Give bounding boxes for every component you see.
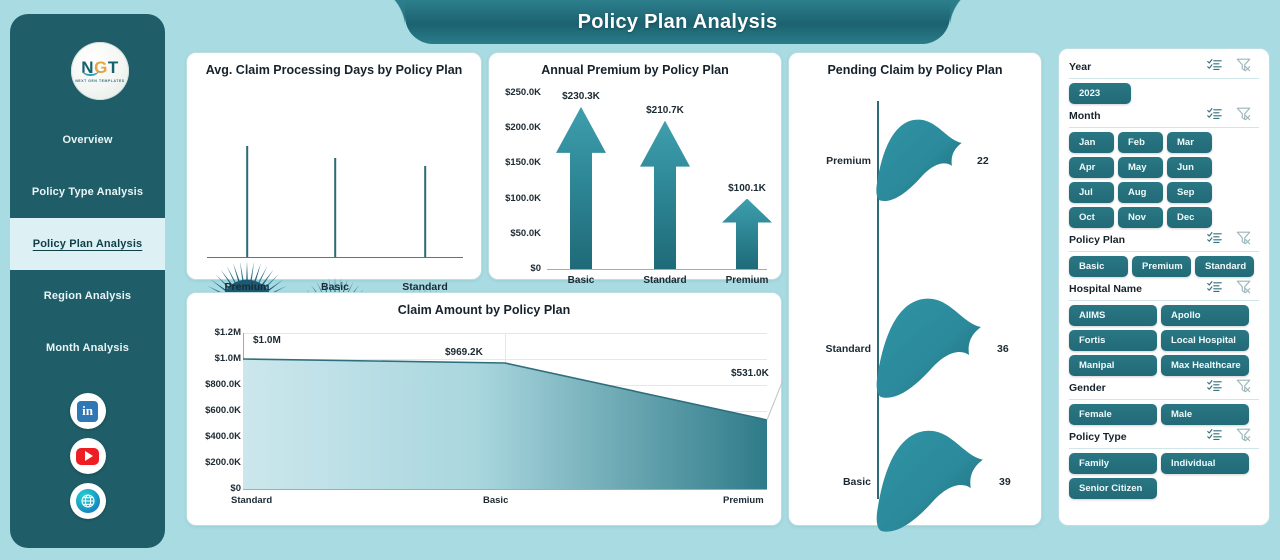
x-axis-line <box>547 269 767 270</box>
card-annual-premium: Annual Premium by Policy Plan $0$50.0K$1… <box>488 52 782 280</box>
filter-chip-basic[interactable]: Basic <box>1069 256 1128 277</box>
y-axis-tick-label: $600.0K <box>189 405 241 416</box>
multi-select-icon[interactable] <box>1207 428 1222 446</box>
clear-filter-icon[interactable] <box>1236 231 1251 250</box>
filter-icons <box>1207 58 1259 77</box>
filter-group-gender: Gender FemaleMale <box>1069 378 1259 425</box>
divider <box>1069 78 1259 79</box>
flag-shape <box>875 293 985 405</box>
y-axis-tick-label: $150.0K <box>491 157 541 168</box>
filter-chip-local-hospital[interactable]: Local Hospital <box>1161 330 1249 351</box>
multi-select-icon[interactable] <box>1207 231 1222 249</box>
flag-value-label: 39 <box>999 476 1011 488</box>
chart-claim-processing-days: 26Premium24Basic23Standard <box>187 97 483 281</box>
divider <box>1069 127 1259 128</box>
filter-group-title: Month <box>1069 110 1207 122</box>
logo-subtitle: NEXT GEN TEMPLATES <box>75 79 124 83</box>
clear-filter-icon[interactable] <box>1236 107 1251 126</box>
y-axis-tick-label: $0 <box>491 263 541 274</box>
filter-chip-jun[interactable]: Jun <box>1167 157 1212 178</box>
chart-title-pending-claim: Pending Claim by Policy Plan <box>789 53 1041 79</box>
filter-group-title: Hospital Name <box>1069 283 1207 295</box>
dandelion-value: 24 <box>329 312 340 323</box>
y-axis-tick-label: $250.0K <box>491 87 541 98</box>
filter-chip-apr[interactable]: Apr <box>1069 157 1114 178</box>
filter-group-policy-plan: Policy Plan BasicPremiumStandard <box>1069 230 1259 277</box>
sidebar-nav: Overview Policy Type Analysis Policy Pla… <box>10 114 165 374</box>
multi-select-icon[interactable] <box>1207 107 1222 125</box>
filter-chip-oct[interactable]: Oct <box>1069 207 1114 228</box>
logo-letter-t: T <box>108 58 119 77</box>
filter-chip-male[interactable]: Male <box>1161 404 1249 425</box>
arrow-shape <box>640 121 690 269</box>
filter-options: JanFebMarAprMayJunJulAugSepOctNovDec <box>1069 132 1259 228</box>
flag-category-label: Standard <box>799 343 871 355</box>
filter-chip-feb[interactable]: Feb <box>1118 132 1163 153</box>
filter-icons <box>1207 428 1259 447</box>
dandelion-stem <box>246 146 248 257</box>
divider <box>1069 300 1259 301</box>
filter-chip-family[interactable]: Family <box>1069 453 1157 474</box>
y-axis-line <box>243 333 244 489</box>
filter-chip-sep[interactable]: Sep <box>1167 182 1212 203</box>
filter-chip-jan[interactable]: Jan <box>1069 132 1114 153</box>
y-axis-tick-label: $800.0K <box>189 379 241 390</box>
sidebar-item-region-analysis[interactable]: Region Analysis <box>10 270 165 322</box>
filter-chip-manipal[interactable]: Manipal <box>1069 355 1157 376</box>
sidebar: NGT NEXT GEN TEMPLATES Overview Policy T… <box>10 14 165 548</box>
flag-shape <box>875 425 987 539</box>
clear-filter-icon[interactable] <box>1236 58 1251 77</box>
filter-options: AIIMSApolloFortisLocal HospitalManipalMa… <box>1069 305 1259 376</box>
filter-chip-senior-citizen[interactable]: Senior Citizen <box>1069 478 1157 499</box>
filter-chip-female[interactable]: Female <box>1069 404 1157 425</box>
page-title: Policy Plan Analysis <box>405 0 950 44</box>
divider <box>1069 251 1259 252</box>
filter-group-title: Gender <box>1069 382 1207 394</box>
filter-options: BasicPremiumStandard <box>1069 256 1259 277</box>
dashboard-root: NGT NEXT GEN TEMPLATES Overview Policy T… <box>0 0 1280 560</box>
arrow-bar-group: $100.1K <box>712 199 782 269</box>
filter-options: FemaleMale <box>1069 404 1259 425</box>
youtube-button[interactable] <box>70 438 106 474</box>
filter-group-header: Policy Plan <box>1069 230 1259 250</box>
divider <box>1069 448 1259 449</box>
filter-chip-premium[interactable]: Premium <box>1132 256 1191 277</box>
flag-value-label: 22 <box>977 155 989 167</box>
filter-chip-max-healthcare[interactable]: Max Healthcare <box>1161 355 1249 376</box>
filter-group-title: Policy Plan <box>1069 234 1207 246</box>
filter-chip-jul[interactable]: Jul <box>1069 182 1114 203</box>
filter-group-month: Month JanFebMarAprMayJunJulAugSepOctNovD… <box>1069 106 1259 228</box>
filter-chip-fortis[interactable]: Fortis <box>1069 330 1157 351</box>
arrow-value-label: $230.3K <box>536 91 626 102</box>
arrow-bar-group: $230.3K <box>546 107 616 269</box>
filter-options: 2023 <box>1069 83 1259 104</box>
y-axis-tick-label: $100.0K <box>491 193 541 204</box>
filter-chip-may[interactable]: May <box>1118 157 1163 178</box>
flag-row: Standard36 <box>789 293 1043 413</box>
filter-group-policy-type: Policy Type FamilyIndividualSenior Citiz… <box>1069 427 1259 499</box>
area-series <box>187 293 783 527</box>
divider <box>1069 399 1259 400</box>
x-axis-line <box>243 489 767 490</box>
flag-row: Premium22 <box>789 115 1043 235</box>
y-axis-tick-label: $1.2M <box>189 327 241 338</box>
website-button[interactable] <box>70 483 106 519</box>
sidebar-item-overview[interactable]: Overview <box>10 114 165 166</box>
flag-category-label: Basic <box>799 476 871 488</box>
multi-select-icon[interactable] <box>1207 379 1222 397</box>
area-value-label: $531.0K <box>731 368 769 379</box>
y-axis-tick-label: $200.0K <box>491 122 541 133</box>
filter-panel: Year 2023Month JanFebMarAprMayJunJulAugS… <box>1058 48 1270 526</box>
clear-filter-icon[interactable] <box>1236 379 1251 398</box>
x-axis-category-label: Premium <box>702 275 792 286</box>
filter-icons <box>1207 379 1259 398</box>
youtube-icon <box>76 448 99 465</box>
filter-group-hospital-name: Hospital Name AIIMSApolloFortisLocal Hos… <box>1069 279 1259 376</box>
filter-chip-standard[interactable]: Standard <box>1195 256 1254 277</box>
dandelion-value: 23 <box>419 320 430 331</box>
chart-title-claim-amount: Claim Amount by Policy Plan <box>187 293 781 319</box>
x-axis-category-label: Basic <box>536 275 626 286</box>
filter-group-year: Year 2023 <box>1069 57 1259 104</box>
area-value-label: $1.0M <box>253 335 281 346</box>
multi-select-icon[interactable] <box>1207 58 1222 76</box>
app-logo: NGT NEXT GEN TEMPLATES <box>71 42 129 100</box>
y-axis-tick-label: $50.0K <box>491 228 541 239</box>
card-pending-claim: Pending Claim by Policy Plan Premium22St… <box>788 52 1042 526</box>
sidebar-item-policy-type-analysis[interactable]: Policy Type Analysis <box>10 166 165 218</box>
flag-row: Basic39 <box>789 425 1043 545</box>
area-value-label: $969.2K <box>445 347 483 358</box>
filter-chip-aug[interactable]: Aug <box>1118 182 1163 203</box>
filter-icons <box>1207 107 1259 126</box>
flag-category-label: Premium <box>799 155 871 167</box>
card-claim-processing-days: Avg. Claim Processing Days by Policy Pla… <box>186 52 482 280</box>
filter-chip-individual[interactable]: Individual <box>1161 453 1249 474</box>
arrow-bar-group: $210.7K <box>630 121 700 269</box>
dandelion-axis-line <box>207 257 463 258</box>
filter-group-header: Hospital Name <box>1069 279 1259 299</box>
filter-group-title: Policy Type <box>1069 431 1207 443</box>
multi-select-icon[interactable] <box>1207 280 1222 298</box>
flag-shape <box>875 115 965 207</box>
gridline-vertical <box>505 333 506 489</box>
x-axis-category-label: Basic <box>483 495 508 506</box>
sidebar-item-policy-plan-analysis[interactable]: Policy Plan Analysis <box>10 218 165 270</box>
x-axis-category-label: Standard <box>231 495 272 506</box>
y-axis-tick-label: $1.0M <box>189 353 241 364</box>
sidebar-socials: in <box>10 384 165 528</box>
filter-group-header: Month <box>1069 106 1259 126</box>
y-axis-tick-label: $400.0K <box>189 431 241 442</box>
arrow-value-label: $100.1K <box>702 183 792 194</box>
filter-chip-dec[interactable]: Dec <box>1167 207 1212 228</box>
filter-chip-nov[interactable]: Nov <box>1118 207 1163 228</box>
filter-chip-aiims[interactable]: AIIMS <box>1069 305 1157 326</box>
linkedin-icon: in <box>77 401 98 422</box>
dandelion-stem <box>424 166 426 257</box>
arrow-shape <box>556 107 606 269</box>
filter-chip-2023[interactable]: 2023 <box>1069 83 1131 104</box>
filter-group-header: Gender <box>1069 378 1259 398</box>
filter-group-title: Year <box>1069 61 1207 73</box>
y-axis-tick-label: $0 <box>189 483 241 494</box>
page-header: Policy Plan Analysis <box>170 0 1280 46</box>
clear-filter-icon[interactable] <box>1236 428 1251 447</box>
filter-group-header: Year <box>1069 57 1259 77</box>
filter-chip-mar[interactable]: Mar <box>1167 132 1212 153</box>
linkedin-button[interactable]: in <box>70 393 106 429</box>
globe-icon <box>76 489 100 513</box>
chart-title-annual-premium: Annual Premium by Policy Plan <box>489 53 781 79</box>
flag-value-label: 36 <box>997 343 1009 355</box>
clear-filter-icon[interactable] <box>1236 280 1251 299</box>
filter-group-header: Policy Type <box>1069 427 1259 447</box>
dandelion-stem <box>334 158 336 257</box>
filter-icons <box>1207 231 1259 250</box>
sidebar-item-month-analysis[interactable]: Month Analysis <box>10 322 165 374</box>
x-axis-category-label: Standard <box>620 275 710 286</box>
filter-icons <box>1207 280 1259 299</box>
filter-options: FamilyIndividualSenior Citizen <box>1069 453 1259 499</box>
filter-chip-apollo[interactable]: Apollo <box>1161 305 1249 326</box>
dandelion-value: 26 <box>241 300 252 311</box>
chart-title-claim-processing-days: Avg. Claim Processing Days by Policy Pla… <box>187 53 481 79</box>
y-axis-tick-label: $200.0K <box>189 457 241 468</box>
x-axis-category-label: Premium <box>723 495 764 506</box>
arrow-value-label: $210.7K <box>620 105 710 116</box>
arrow-shape <box>722 199 772 269</box>
card-claim-amount: Claim Amount by Policy Plan $0$200.0K$40… <box>186 292 782 526</box>
